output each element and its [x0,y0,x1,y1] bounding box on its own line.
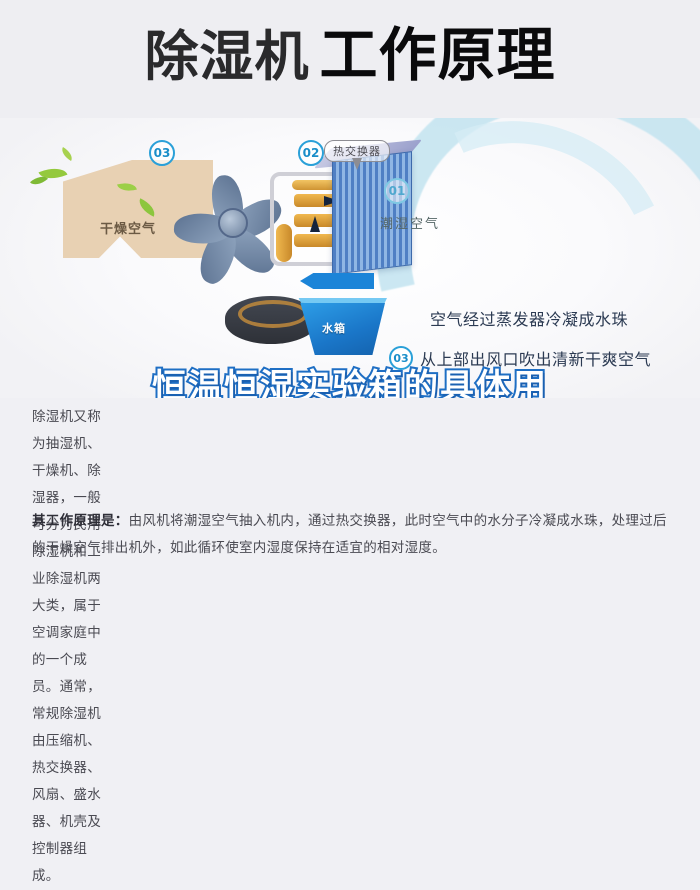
step-badge-01: 01 [384,178,410,204]
step-badge-03-inline: 03 [389,346,413,370]
compressor-body-icon [276,224,292,262]
illustration-stage: 干燥空气 [0,118,700,398]
flow-arrow-up-icon [310,216,320,232]
body-paragraph-1: 除湿机又称为抽湿机、干燥机、除湿器，一般可分为民用除湿机和工业除湿机两大类，属于… [32,404,102,490]
unit-base-ring-icon [238,300,308,328]
body-paragraph-2-lead: 其工作原理是： [32,513,129,529]
title-part-two: 工作原理 [319,21,555,89]
article-body: 除湿机又称为抽湿机、干燥机、除湿器，一般可分为民用除湿机和工业除湿机两大类，属于… [0,404,700,562]
poster-root: 除湿机工作原理 干燥空气 [0,0,700,566]
step-line-03-row: 03 从上部出风口吹出清新干爽空气 [389,346,651,370]
page-title: 除湿机工作原理 [0,26,700,84]
step-line-02: 空气经过蒸发器冷凝成水珠 [430,306,628,330]
fan-hub-icon [218,208,248,238]
step-line-03: 从上部出风口吹出清新干爽空气 [420,346,651,370]
title-band: 除湿机工作原理 [0,0,700,118]
callout-tail-icon [352,158,362,170]
humid-air-label: 潮湿空气 [380,213,440,232]
air-intake-arrow-icon [300,273,374,289]
step-badge-02: 02 [298,140,324,166]
water-tank-label: 水箱 [322,320,346,336]
title-part-one: 除湿机 [144,25,309,88]
dry-air-label: 干燥空气 [100,218,156,237]
step-badge-03: 03 [149,140,175,166]
body-paragraph-2: 其工作原理是：由风机将潮湿空气抽入机内，通过热交换器，此时空气中的水分子冷凝成水… [32,508,668,562]
